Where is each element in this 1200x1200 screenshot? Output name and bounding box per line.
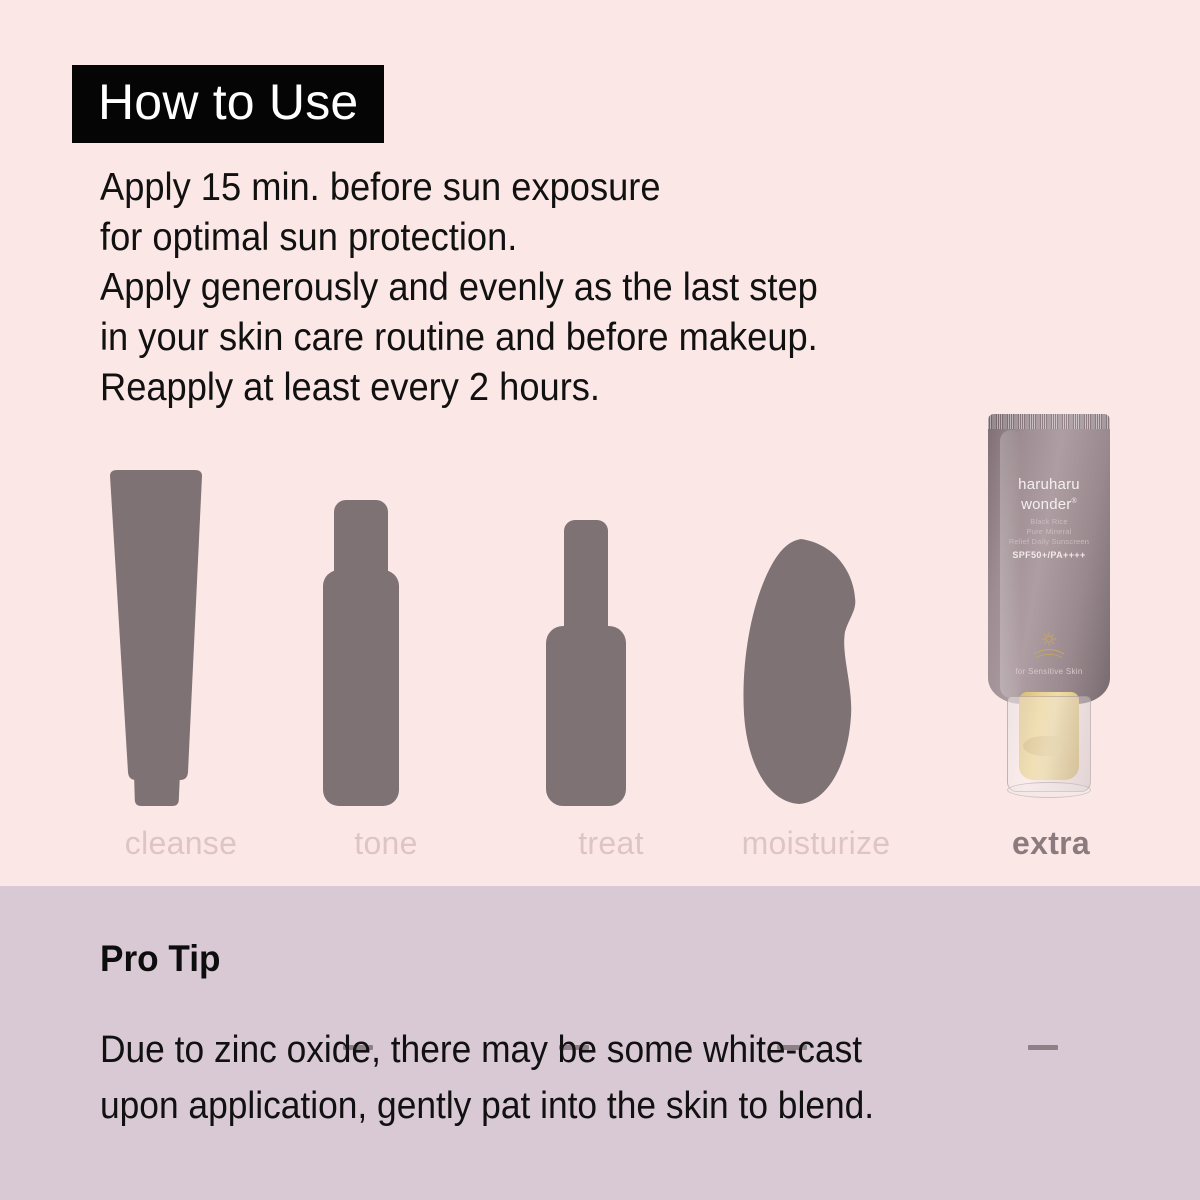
product-description: Black Rice Pure Mineral Relief Daily Sun… — [988, 517, 1110, 547]
product-brand: haruharu wonder® — [988, 476, 1110, 513]
instruction-line-3: Apply generously and evenly as the last … — [100, 263, 1039, 313]
routine-steps: cleanse tone treat moisturize — [96, 400, 1126, 870]
pro-tip-line-2: upon application, gently pat into the sk… — [100, 1078, 1058, 1134]
product-spf: SPF50+/PA++++ — [988, 550, 1110, 560]
step-label-cleanse: cleanse — [96, 825, 266, 862]
pro-tip-line-1: Due to zinc oxide, there may be some whi… — [100, 1022, 1058, 1078]
step-label-extra: extra — [966, 825, 1136, 862]
instructions-block: Apply 15 min. before sun exposure for op… — [100, 163, 1110, 413]
instruction-line-1: Apply 15 min. before sun exposure — [100, 163, 1039, 213]
routine-step-treat: treat — [526, 400, 696, 870]
tube-icon — [96, 468, 266, 808]
instruction-line-2: for optimal sun protection. — [100, 213, 1039, 263]
tube-crimp-seal — [988, 414, 1110, 429]
step-label-moisturize: moisturize — [731, 825, 901, 862]
description-line-1: Black Rice — [988, 517, 1110, 527]
trademark-symbol: ® — [1072, 498, 1077, 505]
sun-emblem-icon — [1029, 632, 1069, 660]
toner-bottle-icon — [301, 498, 471, 808]
how-to-use-badge: How to Use — [72, 65, 384, 143]
pro-tip-title: Pro Tip — [100, 938, 220, 980]
routine-step-moisturize: moisturize — [731, 400, 901, 870]
description-line-3: Relief Daily Sunscreen — [988, 537, 1110, 547]
tube-body: haruharu wonder® Black Rice Pure Mineral… — [988, 414, 1110, 704]
step-label-treat: treat — [526, 825, 696, 862]
tube-highlight — [1000, 430, 1022, 698]
sunscreen-tube-icon: haruharu wonder® Black Rice Pure Mineral… — [988, 414, 1110, 804]
pro-tip-body: Due to zinc oxide, there may be some whi… — [100, 1022, 1130, 1134]
brand-line-2: wonder — [1021, 496, 1071, 513]
tube-cap-cover — [1007, 696, 1091, 792]
step-label-tone: tone — [301, 825, 471, 862]
cream-blob-icon — [731, 536, 901, 808]
tube-cap-base — [1007, 782, 1091, 798]
page-title: How to Use — [98, 77, 358, 127]
routine-step-cleanse: cleanse — [96, 400, 266, 870]
instruction-line-4: in your skin care routine and before mak… — [100, 313, 1039, 363]
serum-bottle-icon — [526, 518, 696, 808]
brand-line-1: haruharu — [988, 476, 1110, 493]
description-line-2: Pure Mineral — [988, 527, 1110, 537]
routine-step-tone: tone — [301, 400, 471, 870]
product-skin-type: for Sensitive Skin — [988, 667, 1110, 676]
